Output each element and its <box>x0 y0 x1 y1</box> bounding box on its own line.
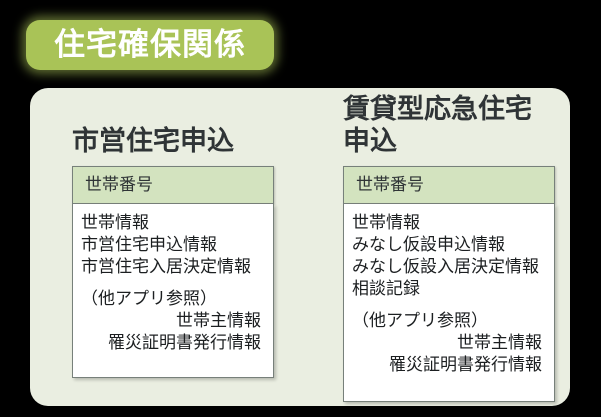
key-field-label: 世帯番号 <box>85 177 153 194</box>
entity-column-chintaigata-okyu-jutaku: 賃貸型応急住宅申込 世帯番号 世帯情報 みなし仮設申込情報 みなし仮設入居決定情… <box>343 88 555 402</box>
category-badge: 住宅確保関係 <box>26 20 274 70</box>
field-item-external-ref: （他アプリ参照） <box>81 288 263 310</box>
field-item: みなし仮設申込情報 <box>352 234 544 256</box>
field-item: 市営住宅入居決定情報 <box>81 256 263 278</box>
field-spacer <box>81 278 263 288</box>
column-title: 市営住宅申込 <box>72 88 274 158</box>
field-item: 世帯情報 <box>352 212 544 234</box>
field-list-box: 世帯情報 みなし仮設申込情報 みなし仮設入居決定情報 相談記録 （他アプリ参照）… <box>343 204 555 402</box>
field-item: 世帯主情報 <box>81 310 263 332</box>
column-title: 賃貸型応急住宅申込 <box>343 88 555 158</box>
entity-column-shiei-jutaku: 市営住宅申込 世帯番号 世帯情報 市営住宅申込情報 市営住宅入居決定情報 （他ア… <box>72 88 274 378</box>
field-list-box: 世帯情報 市営住宅申込情報 市営住宅入居決定情報 （他アプリ参照） 世帯主情報 … <box>72 204 274 378</box>
diagram-canvas: 住宅確保関係 市営住宅申込 世帯番号 世帯情報 市営住宅申込情報 市営住宅入居決… <box>0 0 601 417</box>
field-item: 罹災証明書発行情報 <box>352 354 544 376</box>
field-item: みなし仮設入居決定情報 <box>352 256 544 278</box>
field-item: 世帯主情報 <box>352 332 544 354</box>
field-item-external-ref: （他アプリ参照） <box>352 310 544 332</box>
field-item: 世帯情報 <box>81 212 263 234</box>
field-item: 市営住宅申込情報 <box>81 234 263 256</box>
field-item: 相談記録 <box>352 278 544 300</box>
key-field-box: 世帯番号 <box>72 166 274 204</box>
key-field-box: 世帯番号 <box>343 166 555 204</box>
diagram-panel: 市営住宅申込 世帯番号 世帯情報 市営住宅申込情報 市営住宅入居決定情報 （他ア… <box>30 88 570 406</box>
field-item: 罹災証明書発行情報 <box>81 332 263 354</box>
key-field-label: 世帯番号 <box>356 177 424 194</box>
category-badge-label: 住宅確保関係 <box>54 30 246 61</box>
field-spacer <box>352 300 544 310</box>
